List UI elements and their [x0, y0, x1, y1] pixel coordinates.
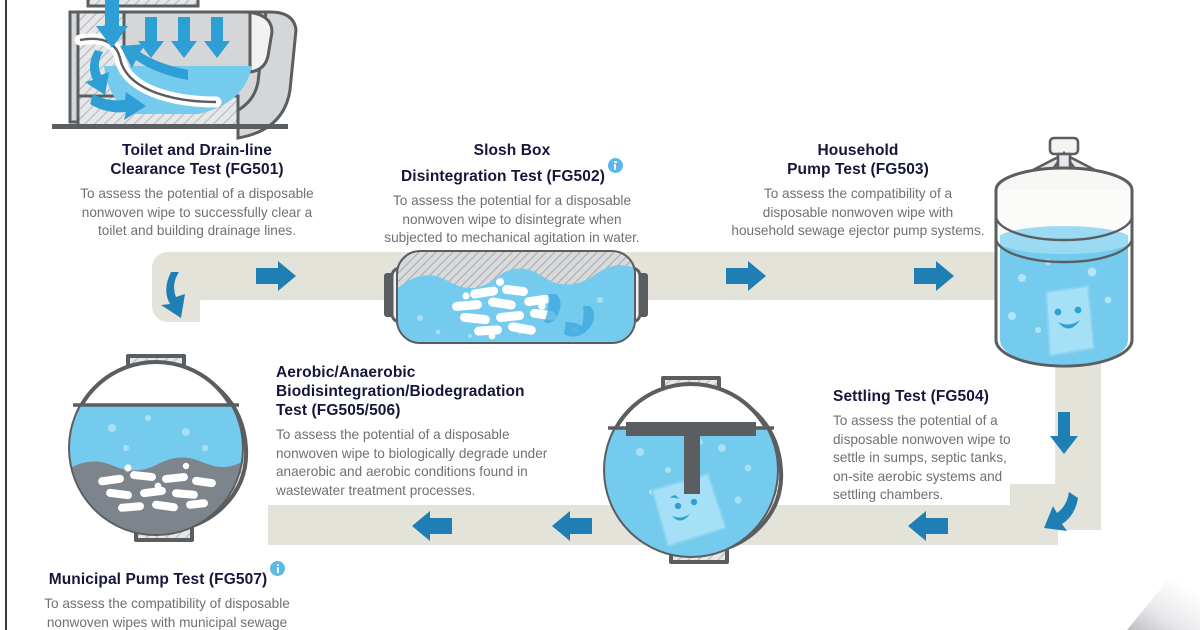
- desc-line: To assess the potential of a disposable: [276, 426, 566, 445]
- title-line: Disintegration Test (FG502): [401, 168, 605, 185]
- desc-line: nonwoven wipe to disintegrate when: [362, 211, 662, 230]
- pipe-segment-bottom-horizontal: [268, 505, 1058, 545]
- test-block-fg503: Household Pump Test (FG503) To assess th…: [708, 141, 1008, 241]
- title-line: Biodisintegration/Biodegradation: [276, 382, 566, 401]
- test-desc-fg504: To assess the potential of a disposable …: [833, 412, 1053, 505]
- left-edge-rule: [5, 0, 7, 630]
- page-curl-corner: [1096, 552, 1200, 630]
- desc-line: anaerobic and aerobic conditions found i…: [276, 463, 566, 482]
- pipe-segment-top-horizontal: [152, 252, 1012, 300]
- test-title-fg503: Household Pump Test (FG503): [708, 141, 1008, 179]
- desc-line: toilet and building drainage lines.: [38, 222, 356, 241]
- desc-line: wastewater treatment processes.: [276, 482, 566, 501]
- title-line: Pump Test (FG503): [708, 160, 1008, 179]
- desc-line: nonwoven wipe to biologically degrade un…: [276, 445, 566, 464]
- title-line: Clearance Test (FG501): [38, 160, 356, 179]
- desc-line: subjected to mechanical agitation in wat…: [362, 229, 662, 248]
- desc-line: nonwoven wipe to successfully clear a: [38, 204, 356, 223]
- desc-line: household sewage ejector pump systems.: [708, 222, 1008, 241]
- title-line: Test (FG505/506): [276, 401, 566, 420]
- pipe-segment-top-left-riser: [152, 252, 200, 322]
- desc-line: on-site aerobic systems and: [833, 468, 1053, 487]
- title-line: Toilet and Drain-line: [38, 141, 356, 160]
- test-desc-fg502: To assess the potential for a disposable…: [362, 192, 662, 248]
- title-line: Municipal Pump Test (FG507): [49, 571, 268, 588]
- test-block-fg501: Toilet and Drain-line Clearance Test (FG…: [38, 141, 356, 241]
- test-block-fg504: Settling Test (FG504) To assess the pote…: [833, 387, 1053, 505]
- test-desc-fg505-506: To assess the potential of a disposable …: [276, 426, 566, 500]
- test-block-fg505-506: Aerobic/Anaerobic Biodisintegration/Biod…: [276, 363, 566, 500]
- test-desc-fg507: To assess the compatibility of disposabl…: [14, 595, 320, 630]
- desc-line: To assess the potential of a: [833, 412, 1053, 431]
- title-line: Aerobic/Anaerobic: [276, 363, 566, 382]
- page-curl-sheet: [1096, 552, 1200, 630]
- info-icon[interactable]: [608, 158, 623, 173]
- desc-line: nonwoven wipes with municipal sewage: [14, 614, 320, 630]
- infographic-canvas: Toilet and Drain-line Clearance Test (FG…: [0, 0, 1200, 630]
- desc-line: To assess the compatibility of a: [708, 185, 1008, 204]
- biodegradation-vessel-illustration: [70, 356, 246, 542]
- title-line-with-icon: Disintegration Test (FG502): [362, 160, 662, 186]
- test-desc-fg503: To assess the compatibility of a disposa…: [708, 185, 1008, 241]
- desc-line: disposable nonwoven wipe to: [833, 431, 1053, 450]
- title-line: Slosh Box: [362, 141, 662, 160]
- desc-line: To assess the compatibility of disposabl…: [14, 595, 320, 614]
- test-title-fg505-506: Aerobic/Anaerobic Biodisintegration/Biod…: [276, 363, 566, 420]
- test-title-fg502: Slosh Box Disintegration Test (FG502): [362, 141, 662, 186]
- info-icon[interactable]: [270, 561, 285, 576]
- desc-line: settle in sumps, septic tanks,: [833, 449, 1053, 468]
- toilet-cutaway-illustration: [52, 0, 296, 138]
- test-title-fg501: Toilet and Drain-line Clearance Test (FG…: [38, 141, 356, 179]
- test-block-fg502: Slosh Box Disintegration Test (FG502) To…: [362, 141, 662, 248]
- test-title-fg504: Settling Test (FG504): [833, 387, 1053, 406]
- test-block-fg507: Municipal Pump Test (FG507) To assess th…: [14, 563, 320, 630]
- title-line-with-icon: Municipal Pump Test (FG507): [14, 563, 320, 589]
- desc-line: To assess the potential for a disposable: [362, 192, 662, 211]
- desc-line: To assess the potential of a disposable: [38, 185, 356, 204]
- test-desc-fg501: To assess the potential of a disposable …: [38, 185, 356, 241]
- desc-line: settling chambers.: [833, 486, 1053, 505]
- test-title-fg507: Municipal Pump Test (FG507): [14, 563, 320, 589]
- title-line: Settling Test (FG504): [833, 387, 1053, 406]
- title-line: Household: [708, 141, 1008, 160]
- desc-line: disposable nonwoven wipe with: [708, 204, 1008, 223]
